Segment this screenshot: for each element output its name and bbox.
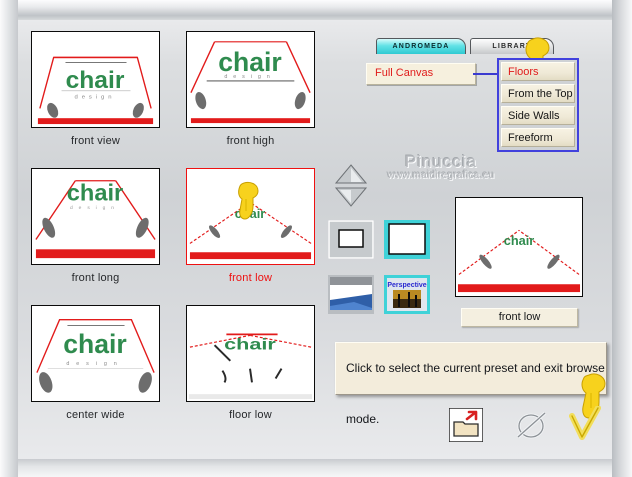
window-frame-right [612,0,632,477]
menu-item-floors[interactable]: Floors [501,62,575,81]
triangle-down-icon [335,187,367,207]
svg-text:chair: chair [66,67,125,94]
thumbnail-caption: front low [186,272,315,284]
thumbnail-cell[interactable]: chair design front view [31,31,160,147]
scroll-down-button[interactable] [335,187,367,212]
thumbnail-caption: front high [186,135,315,147]
thumbnail-front-long[interactable]: chair design [31,168,160,265]
svg-text:chair: chair [218,47,282,77]
svg-text:chair: chair [63,329,127,359]
menu-item-side-walls[interactable]: Side Walls [501,106,575,125]
thumbnail-cell[interactable]: chair floor low [186,305,315,421]
thumb-art-center-wide: chair design [32,306,159,401]
thumbnail-floor-low[interactable]: chair [186,305,315,402]
thumbnail-caption: floor low [186,409,315,421]
status-message: Click to select the current preset and e… [335,342,607,395]
thumbnail-cell[interactable]: chair design front high [186,31,315,147]
preview-perspective-icon: Perspective [384,275,430,314]
thumbnail-front-view[interactable]: chair design [31,31,160,128]
thumbnail-caption: front view [31,135,160,147]
mode-button-preview-perspective[interactable]: Perspective [384,275,430,314]
preview-small-icon [328,220,374,259]
cancel-button[interactable] [513,408,549,447]
menu-item-freeform[interactable]: Freeform [501,128,575,147]
thumb-art-front-long: chair design [32,169,159,264]
triangle-up-icon [335,164,367,184]
svg-text:design: design [70,205,120,211]
thumbnail-front-low[interactable]: chair [186,168,315,265]
preset-menu-panel: Floors From the Top Side Walls Freeform [497,58,579,152]
preview-large-icon [384,220,430,259]
thumbnail-cell[interactable]: chair design center wide [31,305,160,421]
thumbnail-cell[interactable]: chair front low [186,168,315,284]
window-frame-top [0,0,632,20]
svg-text:chair: chair [67,179,123,205]
thumbnail-front-high[interactable]: chair design [186,31,315,128]
thumbnail-center-wide[interactable]: chair design [31,305,160,402]
preview-image-icon [328,275,374,314]
watermark: Pinuccia www.maidiregrafica.eu [366,152,516,181]
tab-andromeda[interactable]: ANDROMEDA [376,38,466,54]
mode-button-preview-large[interactable] [384,220,430,259]
main-panel: chair design front view chair des [18,20,612,459]
window-frame-bottom [0,459,632,477]
export-folder-icon [449,408,483,442]
thumbnail-caption: front long [31,272,160,284]
thumb-art-floor-low: chair [187,306,314,401]
svg-text:chair: chair [235,206,266,221]
thumbnail-caption: center wide [31,409,160,421]
cancel-icon [513,408,549,442]
mode-button-preview-image[interactable] [328,275,374,314]
export-folder-button[interactable] [449,408,483,447]
watermark-title: Pinuccia [366,152,516,172]
application-window: chair design front view chair des [0,0,632,477]
tab-library[interactable]: LIBRARY [470,38,554,54]
svg-text:design: design [224,74,275,80]
menu-item-from-the-top[interactable]: From the Top [501,84,575,103]
svg-text:Perspective: Perspective [387,282,426,289]
thumb-art-front-high: chair design [187,32,314,127]
svg-text:design: design [66,361,123,367]
preview-image[interactable]: chair [455,197,583,297]
menu-connector-line [473,73,498,75]
confirm-check-icon [565,406,603,444]
svg-text:chair: chair [504,233,535,248]
thumb-art-front-view: chair design [32,32,159,127]
thumb-art-front-low: chair [187,169,314,264]
window-frame-left [0,0,18,477]
preview-label: front low [461,308,578,327]
svg-text:chair: chair [224,336,277,353]
thumbnail-cell[interactable]: chair design front long [31,168,160,284]
confirm-button[interactable] [565,406,603,449]
preview-art-front-low: chair [456,198,582,296]
svg-text:design: design [75,95,116,101]
mode-button-preview-small[interactable] [328,220,374,259]
current-preset-label[interactable]: Full Canvas [366,63,476,85]
scroll-up-button[interactable] [335,164,367,189]
watermark-url: www.maidiregrafica.eu [366,170,516,181]
